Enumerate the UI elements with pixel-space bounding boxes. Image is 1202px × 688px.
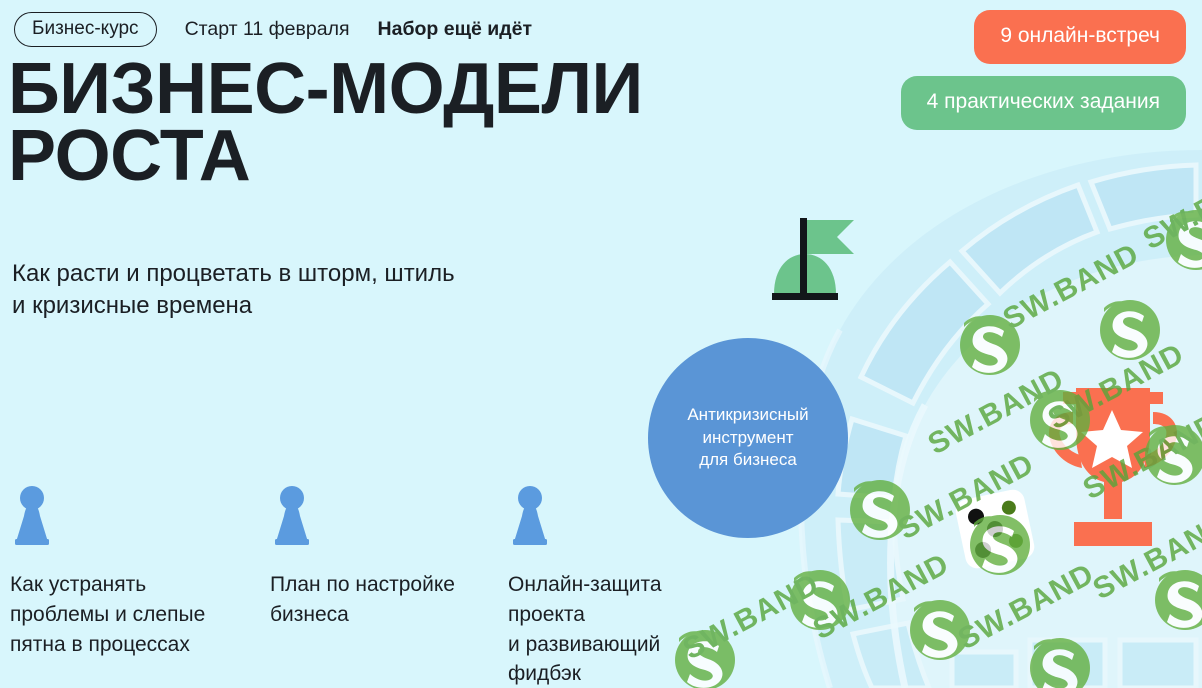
feature-item-3: Онлайн-защита проекта и развивающий фидб…: [508, 484, 743, 688]
dice-icon: [951, 485, 1039, 573]
badge-group: 9 онлайн-встреч 4 практических задания: [901, 10, 1186, 130]
hero-banner: Антикризисный инструмент для бизнеса Биз…: [0, 0, 1202, 688]
page-subtitle: Как расти и процветать в шторм, штиль и …: [12, 258, 532, 322]
feature-item-1-text: Как устранять проблемы и слепые пятна в …: [10, 570, 245, 659]
start-date-label: Старт 11 февраля: [185, 18, 350, 41]
badge-online-meetings: 9 онлайн-встреч: [974, 10, 1186, 64]
chess-pawn-icon: [508, 484, 552, 548]
page-title-line-2: РОСТА: [8, 116, 250, 196]
feature-item-1: Как устранять проблемы и слепые пятна в …: [10, 484, 245, 659]
topbar: Бизнес-курс Старт 11 февраля Набор ещё и…: [14, 12, 532, 47]
green-flag-icon: [762, 210, 858, 302]
badge-practical-tasks: 4 практических задания: [901, 76, 1186, 130]
feature-list: Как устранять проблемы и слепые пятна в …: [0, 484, 700, 688]
page-subtitle-line-2: и кризисные времена: [12, 292, 252, 319]
feature-item-3-text: Онлайн-защита проекта и развивающий фидб…: [508, 570, 743, 688]
feature-item-2-text: План по настройке бизнеса: [270, 570, 505, 630]
enrollment-status-label: Набор ещё идёт: [378, 18, 533, 41]
circle-line-1: Антикризисный: [687, 405, 808, 424]
feature-item-2: План по настройке бизнеса: [270, 484, 505, 630]
circle-callout-text: Антикризисный инструмент для бизнеса: [687, 404, 808, 471]
circle-line-2: инструмент: [702, 428, 793, 447]
chess-pawn-icon: [270, 484, 314, 548]
page-subtitle-line-1: Как расти и процветать в шторм, штиль: [12, 260, 455, 287]
trophy-icon: [1040, 382, 1186, 552]
circle-line-3: для бизнеса: [699, 450, 797, 469]
chess-pawn-icon: [10, 484, 54, 548]
course-type-tag: Бизнес-курс: [14, 12, 157, 47]
page-title: БИЗНЕС-МОДЕЛИ РОСТА: [8, 56, 858, 190]
